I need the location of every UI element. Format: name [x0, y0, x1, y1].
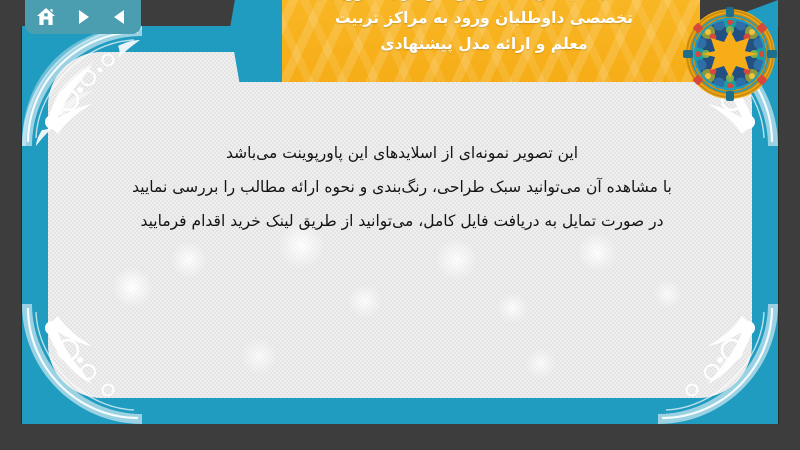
slide-canvas: این تصویر نمونه‌ای از اسلایدهای این پاور…: [22, 26, 778, 424]
home-button[interactable]: [34, 5, 58, 29]
body-line: با مشاهده آن می‌توانید سبک طراحی، رنگ‌بن…: [82, 170, 722, 204]
title-line: تخصصی داوطلبان ورود به مراکز تربیت: [284, 5, 684, 31]
slide-viewer-window: این تصویر نمونه‌ای از اسلایدهای این پاور…: [0, 0, 800, 450]
title-line: معلم و ارائه مدل پیشنهادی: [284, 31, 684, 57]
window-footer-strip: [0, 424, 800, 450]
slide-body-text: این تصویر نمونه‌ای از اسلایدهای این پاور…: [82, 136, 722, 238]
triangle-right-icon: [73, 7, 93, 27]
banner-arrow-shape: [230, 0, 282, 82]
slide-title: شناسایی چالش‌های موجود در فرآیند ارزیابی…: [284, 0, 684, 82]
body-line: این تصویر نمونه‌ای از اسلایدهای این پاور…: [82, 136, 722, 170]
slide-navigation-bar: [25, 0, 141, 34]
triangle-left-icon: [110, 7, 130, 27]
previous-slide-button[interactable]: [108, 5, 132, 29]
body-line: در صورت تمایل به دریافت فایل کامل، می‌تو…: [82, 204, 722, 238]
next-slide-button[interactable]: [71, 5, 95, 29]
slide-title-banner: شناسایی چالش‌های موجود در فرآیند ارزیابی…: [230, 0, 700, 82]
persian-medallion-icon: [680, 4, 780, 104]
home-icon: [35, 6, 57, 28]
